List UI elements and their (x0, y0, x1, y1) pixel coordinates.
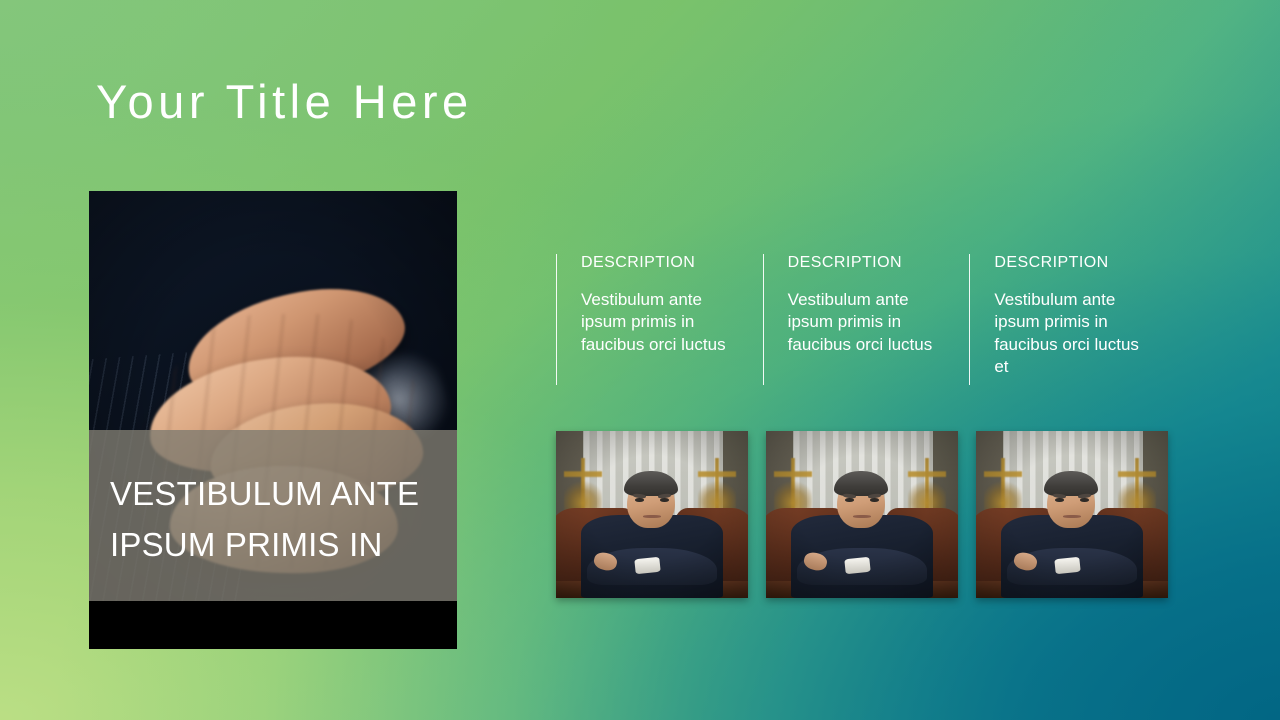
description-column-2[interactable]: DESCRIPTION Vestibulum ante ipsum primis… (763, 254, 970, 385)
thumb-vignette (556, 431, 748, 598)
description-body: Vestibulum ante ipsum primis in faucibus… (581, 289, 731, 357)
description-body: Vestibulum ante ipsum primis in faucibus… (788, 289, 938, 357)
presentation-slide: Your Title Here VESTIBULUM ANTE IPSUM PR… (0, 0, 1280, 720)
description-body: Vestibulum ante ipsum primis in faucibus… (994, 289, 1144, 379)
feature-caption-overlay: VESTIBULUM ANTE IPSUM PRIMIS IN (89, 430, 457, 601)
page-title: Your Title Here (96, 74, 473, 130)
thumbnail-2[interactable] (766, 431, 958, 598)
description-column-1[interactable]: DESCRIPTION Vestibulum ante ipsum primis… (556, 254, 763, 385)
description-heading: DESCRIPTION (788, 254, 956, 272)
description-heading: DESCRIPTION (581, 254, 749, 272)
thumb-vignette (976, 431, 1168, 598)
description-columns: DESCRIPTION Vestibulum ante ipsum primis… (556, 254, 1176, 385)
feature-card[interactable]: VESTIBULUM ANTE IPSUM PRIMIS IN (89, 191, 457, 649)
description-column-3[interactable]: DESCRIPTION Vestibulum ante ipsum primis… (969, 254, 1176, 385)
thumbnail-1[interactable] (556, 431, 748, 598)
thumbnail-3[interactable] (976, 431, 1168, 598)
description-heading: DESCRIPTION (994, 254, 1162, 272)
feature-caption-text: VESTIBULUM ANTE IPSUM PRIMIS IN (110, 468, 437, 570)
thumb-vignette (766, 431, 958, 598)
thumbnail-row (556, 431, 1168, 598)
feature-card-footer-bar (89, 601, 457, 649)
